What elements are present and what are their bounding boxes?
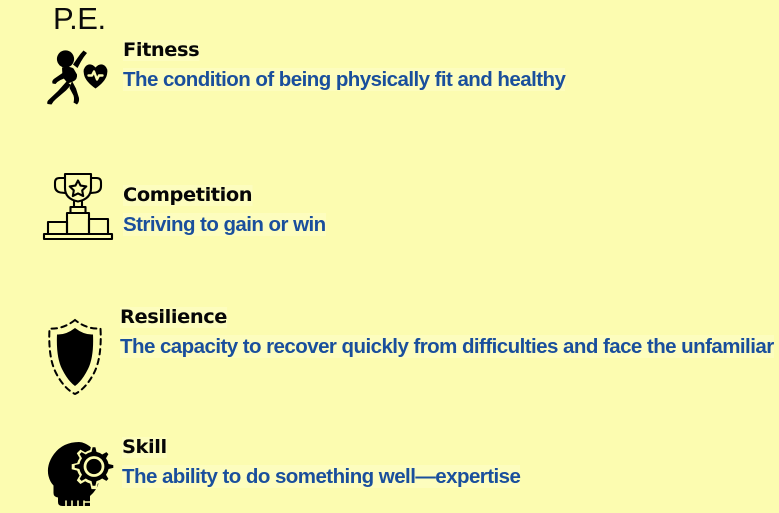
resilience-text-block: Resilience The capacity to recover quick…: [120, 307, 779, 363]
term-label: Skill: [122, 437, 167, 458]
term-label: Resilience: [120, 307, 227, 328]
head-gear-icon: [45, 440, 117, 508]
term-label: Fitness: [123, 40, 199, 61]
definition-text: The condition of being physically fit an…: [123, 63, 779, 96]
shield-dashed-outline-icon: [38, 315, 112, 395]
skill-text-block: Skill The ability to do something well—e…: [122, 437, 779, 493]
trophy-podium-icon: [39, 167, 117, 245]
competition-text-block: Competition Striving to gain or win: [123, 185, 779, 241]
slide-canvas: P.E.: [0, 0, 779, 513]
definition-text: Striving to gain or win: [123, 208, 779, 241]
definition-text: The ability to do something well—experti…: [122, 460, 779, 493]
term-label: Competition: [123, 185, 252, 206]
definition-text: The capacity to recover quickly from dif…: [120, 330, 779, 363]
fitness-text-block: Fitness The condition of being physicall…: [123, 40, 779, 96]
running-figure-heart-icon: [42, 48, 118, 110]
page-title: P.E.: [53, 0, 106, 39]
